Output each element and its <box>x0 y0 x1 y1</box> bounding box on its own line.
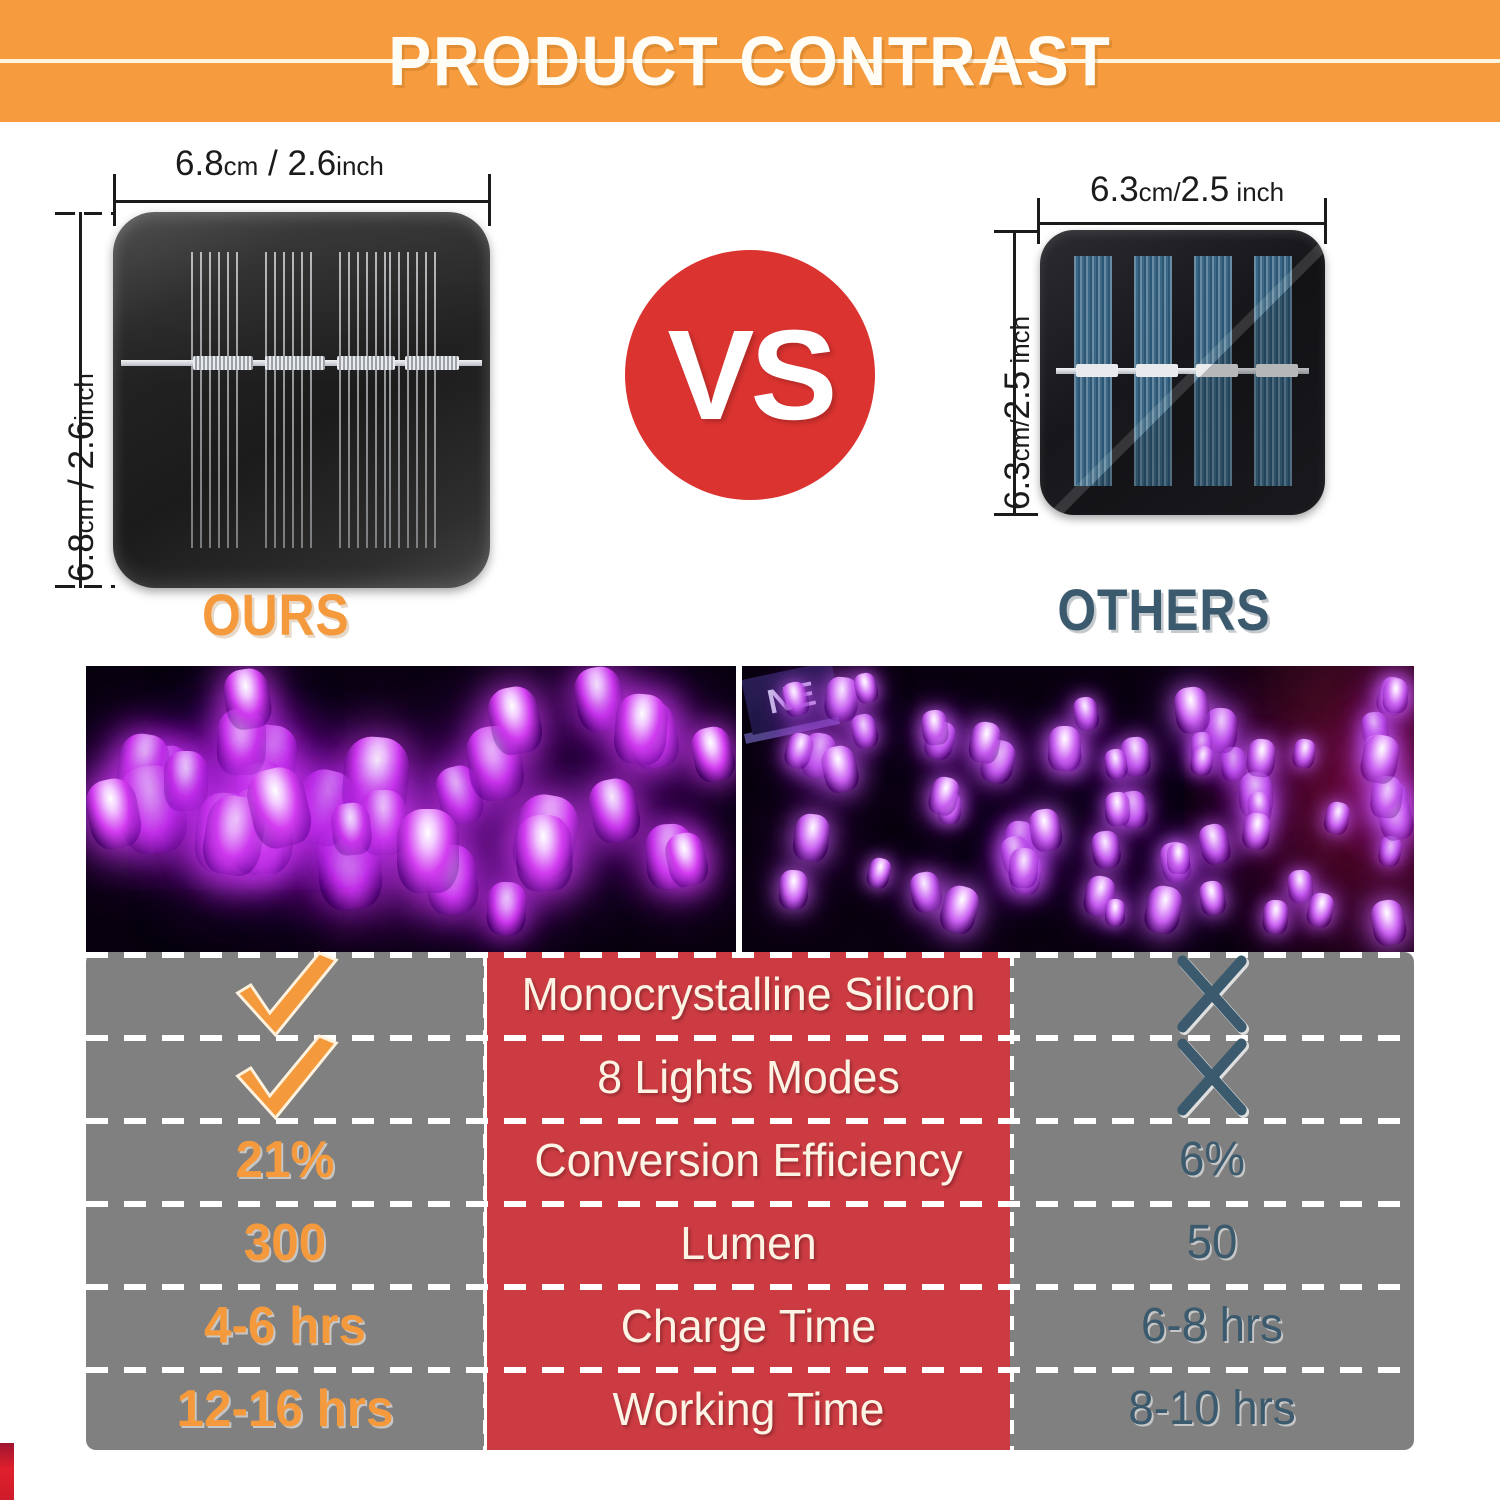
photo-strip: NE <box>86 666 1414 952</box>
led-bulb <box>819 743 862 795</box>
panel-comparison-area: 6.8cm / 2.6inch 6.8cm / 2.6inch <box>0 122 1500 652</box>
table-row: Lumen <box>495 1201 1002 1284</box>
table-row: 6-8 hrs <box>1020 1284 1404 1367</box>
others-height-label: 6.3cm/2.5 inch <box>998 316 1038 510</box>
table-row <box>96 1035 474 1118</box>
table-row: 8-10 hrs <box>1020 1367 1404 1450</box>
others-width-label: 6.3cm/2.5 inch <box>1090 170 1284 210</box>
led-bulb <box>1241 811 1272 850</box>
vs-label: VS <box>667 302 833 449</box>
led-bulb <box>1167 843 1190 874</box>
led-bulb <box>1071 695 1100 731</box>
ours-width-tick-right <box>488 174 491 226</box>
corner-artifact <box>0 1443 14 1500</box>
ours-busbar-node <box>265 356 325 370</box>
ours-height-tick-bot-c <box>111 585 115 588</box>
others-busbar-node <box>1196 364 1238 377</box>
ours-height-tick-top-c <box>111 212 115 215</box>
others-width-tick-right <box>1324 198 1327 244</box>
ours-solar-panel <box>113 212 490 588</box>
comparison-table: Monocrystalline Silicon 8 Lights Modes <box>86 952 1414 1450</box>
table-row <box>1020 952 1404 1035</box>
led-bulb <box>1105 899 1126 927</box>
others-label: OTHERS <box>1057 577 1270 644</box>
header-banner: PRODUCT CONTRAST <box>0 0 1500 122</box>
table-row: Conversion Efficiency <box>495 1118 1002 1201</box>
led-bulb <box>397 809 460 894</box>
table-row <box>96 952 474 1035</box>
led-bulb <box>791 812 832 863</box>
others-busbar-node <box>1136 364 1178 377</box>
led-bulb <box>1027 807 1064 853</box>
led-bulb <box>1103 748 1129 781</box>
led-bulb <box>937 883 983 937</box>
ours-width-label: 6.8cm / 2.6inch <box>175 144 384 184</box>
led-bulb <box>1142 883 1185 936</box>
table-row: Charge Time <box>495 1284 1002 1367</box>
ours-busbar-node <box>405 356 459 370</box>
others-height-ruler <box>1013 230 1016 516</box>
ours-width-tick-left <box>113 174 116 226</box>
led-bulb <box>688 723 736 784</box>
table-row: 6% <box>1020 1118 1404 1201</box>
others-height-tick-bottom <box>994 513 1038 516</box>
ours-label: OURS <box>202 582 350 649</box>
others-busbar-node <box>1076 364 1118 377</box>
others-solar-panel <box>1040 230 1325 515</box>
table-row <box>1020 1035 1404 1118</box>
table-cells: Monocrystalline Silicon 8 Lights Modes <box>86 952 1414 1450</box>
ours-busbar-node <box>193 356 253 370</box>
led-bulb <box>1262 899 1289 934</box>
table-row: 50 <box>1020 1201 1404 1284</box>
ours-led-photo <box>86 666 736 952</box>
check-icon <box>228 951 342 1037</box>
ours-height-ruler <box>79 212 82 588</box>
table-row: Monocrystalline Silicon <box>495 952 1002 1035</box>
ours-busbar-node <box>337 356 395 370</box>
ours-height-tick-top-b <box>84 212 102 215</box>
ours-height-tick-top-a <box>55 212 75 215</box>
table-row: 4-6 hrs <box>96 1284 474 1367</box>
led-bulb <box>486 881 527 935</box>
ours-height-tick-bot-b <box>84 585 102 588</box>
led-bulb <box>908 870 945 915</box>
led-bulb <box>612 692 669 766</box>
led-bulb <box>1008 847 1040 888</box>
ours-height-tick-bot-a <box>55 585 75 588</box>
check-icon <box>228 1034 342 1120</box>
cross-icon <box>1171 1034 1253 1120</box>
led-bulb <box>514 814 573 892</box>
led-bulb <box>1104 791 1131 826</box>
ours-height-label: 6.8cm / 2.6inch <box>62 373 102 582</box>
led-bulb <box>586 775 644 846</box>
led-bulb <box>1382 679 1409 714</box>
led-bulb <box>864 856 893 890</box>
led-bulb <box>920 709 950 747</box>
table-row: Working Time <box>495 1367 1002 1450</box>
led-bulb <box>330 802 374 858</box>
vs-badge: VS <box>625 250 875 500</box>
cross-icon <box>1171 951 1253 1037</box>
others-width-tick-left <box>1037 198 1040 244</box>
led-bulb <box>1047 726 1081 771</box>
others-busbar-node <box>1256 364 1298 377</box>
ours-width-ruler <box>113 200 491 203</box>
table-row: 12-16 hrs <box>96 1367 474 1450</box>
table-row: 300 <box>96 1201 474 1284</box>
others-width-ruler <box>1037 222 1327 225</box>
page-title: PRODUCT CONTRAST <box>60 0 1440 122</box>
others-height-tick-top <box>994 230 1038 233</box>
table-row: 8 Lights Modes <box>495 1035 1002 1118</box>
table-row: 21% <box>96 1118 474 1201</box>
led-bulb <box>779 870 809 910</box>
others-led-photo: NE <box>742 666 1414 952</box>
led-bulb <box>1090 829 1122 869</box>
led-bulb <box>164 751 208 811</box>
